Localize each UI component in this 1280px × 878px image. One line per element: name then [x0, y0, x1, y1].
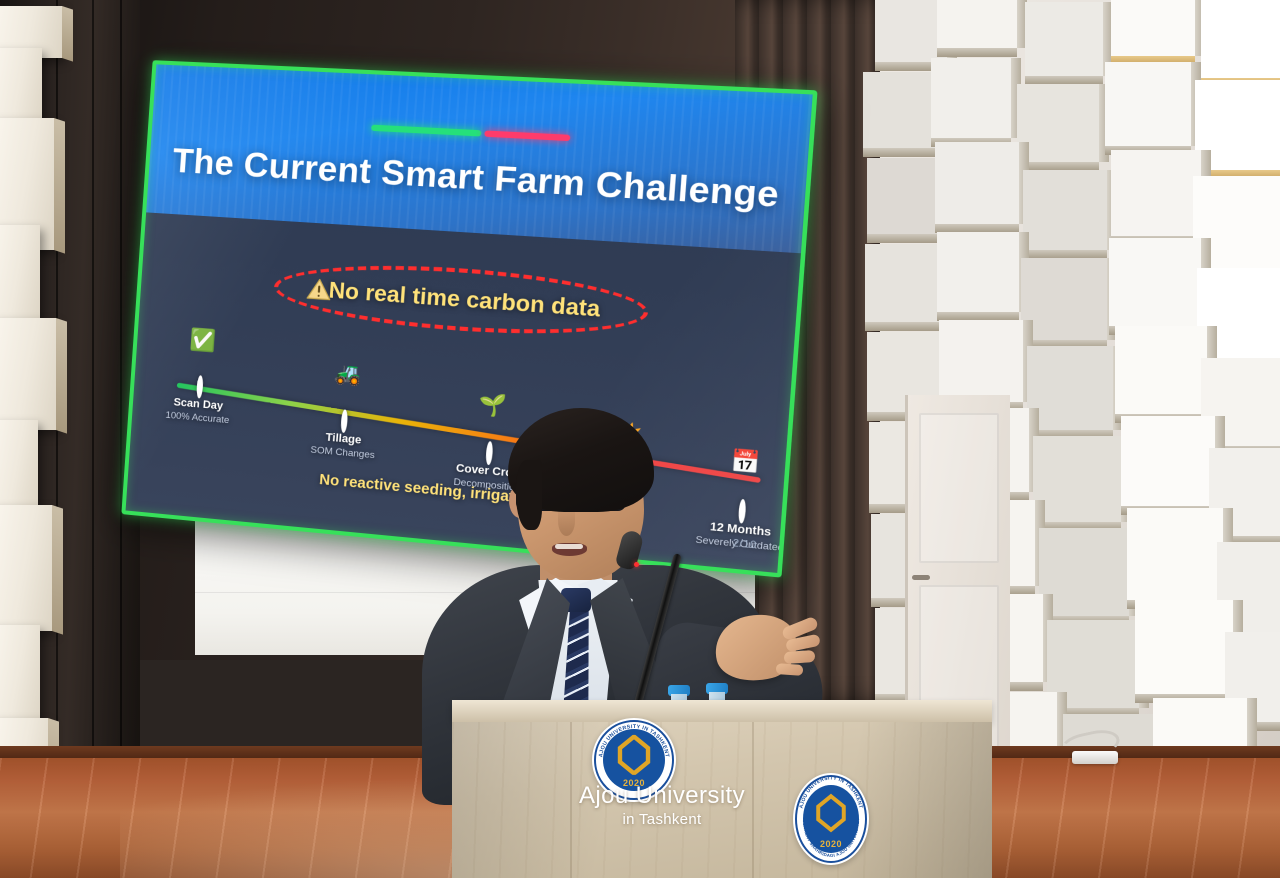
wall-block-panel: [0, 318, 56, 430]
lecture-hall-scene: The Current Smart Farm Challenge No real…: [0, 0, 1280, 878]
podium-branding: Ajou University in Tashkent: [452, 782, 872, 828]
organization-name: Ajou University: [452, 782, 872, 810]
hair: [508, 408, 654, 512]
red-led-indicator: [634, 562, 639, 567]
wall-block-panel: [0, 48, 42, 128]
timeline-node-sub: SOM Changes: [310, 444, 375, 461]
emblem-mark-icon: [616, 735, 651, 775]
emblem-year: 2020: [793, 839, 869, 849]
finger: [776, 663, 804, 676]
wall-block-panel: [0, 225, 40, 321]
timeline-node: ✅ Scan Day 100% Accurate: [197, 362, 204, 381]
wall-block-panel: [0, 420, 38, 510]
door-handle[interactable]: [912, 575, 930, 580]
warning-callout: No real time carbon data: [272, 256, 651, 344]
timeline-node: 🚜 Tillage SOM Changes: [342, 396, 349, 415]
check-mark-icon: ✅: [189, 329, 217, 352]
finger: [784, 650, 816, 664]
tractor-icon: 🚜: [334, 363, 362, 387]
power-strip: [1072, 751, 1118, 764]
mouth: [552, 543, 587, 556]
podium-top-surface: [452, 700, 992, 722]
warning-text: No real time carbon data: [328, 277, 601, 323]
wall-block-panel: [0, 625, 40, 725]
timeline-node-label: Tillage: [325, 431, 362, 446]
organization-location: in Tashkent: [452, 811, 872, 828]
wall-block-panel: [0, 505, 52, 631]
